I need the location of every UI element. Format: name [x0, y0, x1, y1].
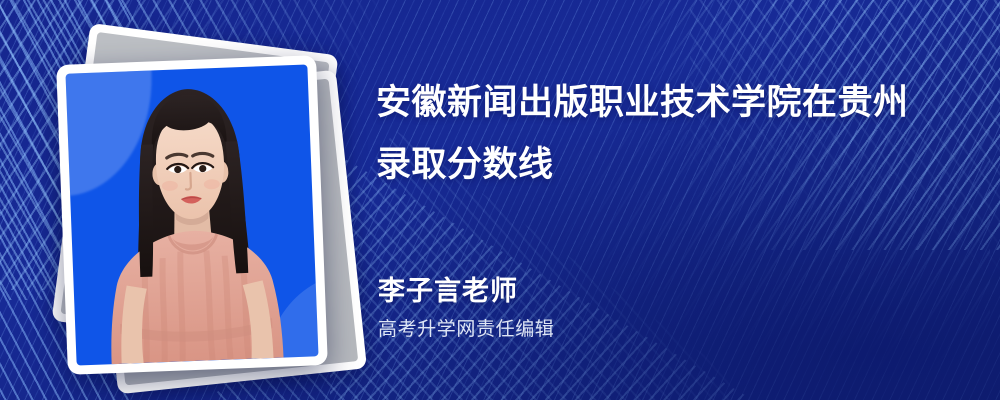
author-name: 李子言老师: [378, 272, 554, 310]
banner-title-line-1: 安徽新闻出版职业技术学院在贵州: [376, 72, 956, 134]
banner-text-content: 安徽新闻出版职业技术学院在贵州 录取分数线 李子言老师 高考升学网责任编辑: [376, 0, 976, 400]
banner-title: 安徽新闻出版职业技术学院在贵州 录取分数线: [376, 72, 956, 196]
author-byline: 李子言老师 高考升学网责任编辑: [378, 272, 554, 346]
author-portrait-photo: [65, 64, 318, 365]
portrait-illustration: [65, 64, 318, 365]
promo-banner: 安徽新闻出版职业技术学院在贵州 录取分数线 李子言老师 高考升学网责任编辑: [0, 0, 1000, 400]
banner-title-line-2: 录取分数线: [376, 134, 956, 196]
author-role: 高考升学网责任编辑: [378, 314, 554, 346]
photo-card-stack: [44, 36, 364, 366]
photo-card-front: [56, 55, 328, 375]
